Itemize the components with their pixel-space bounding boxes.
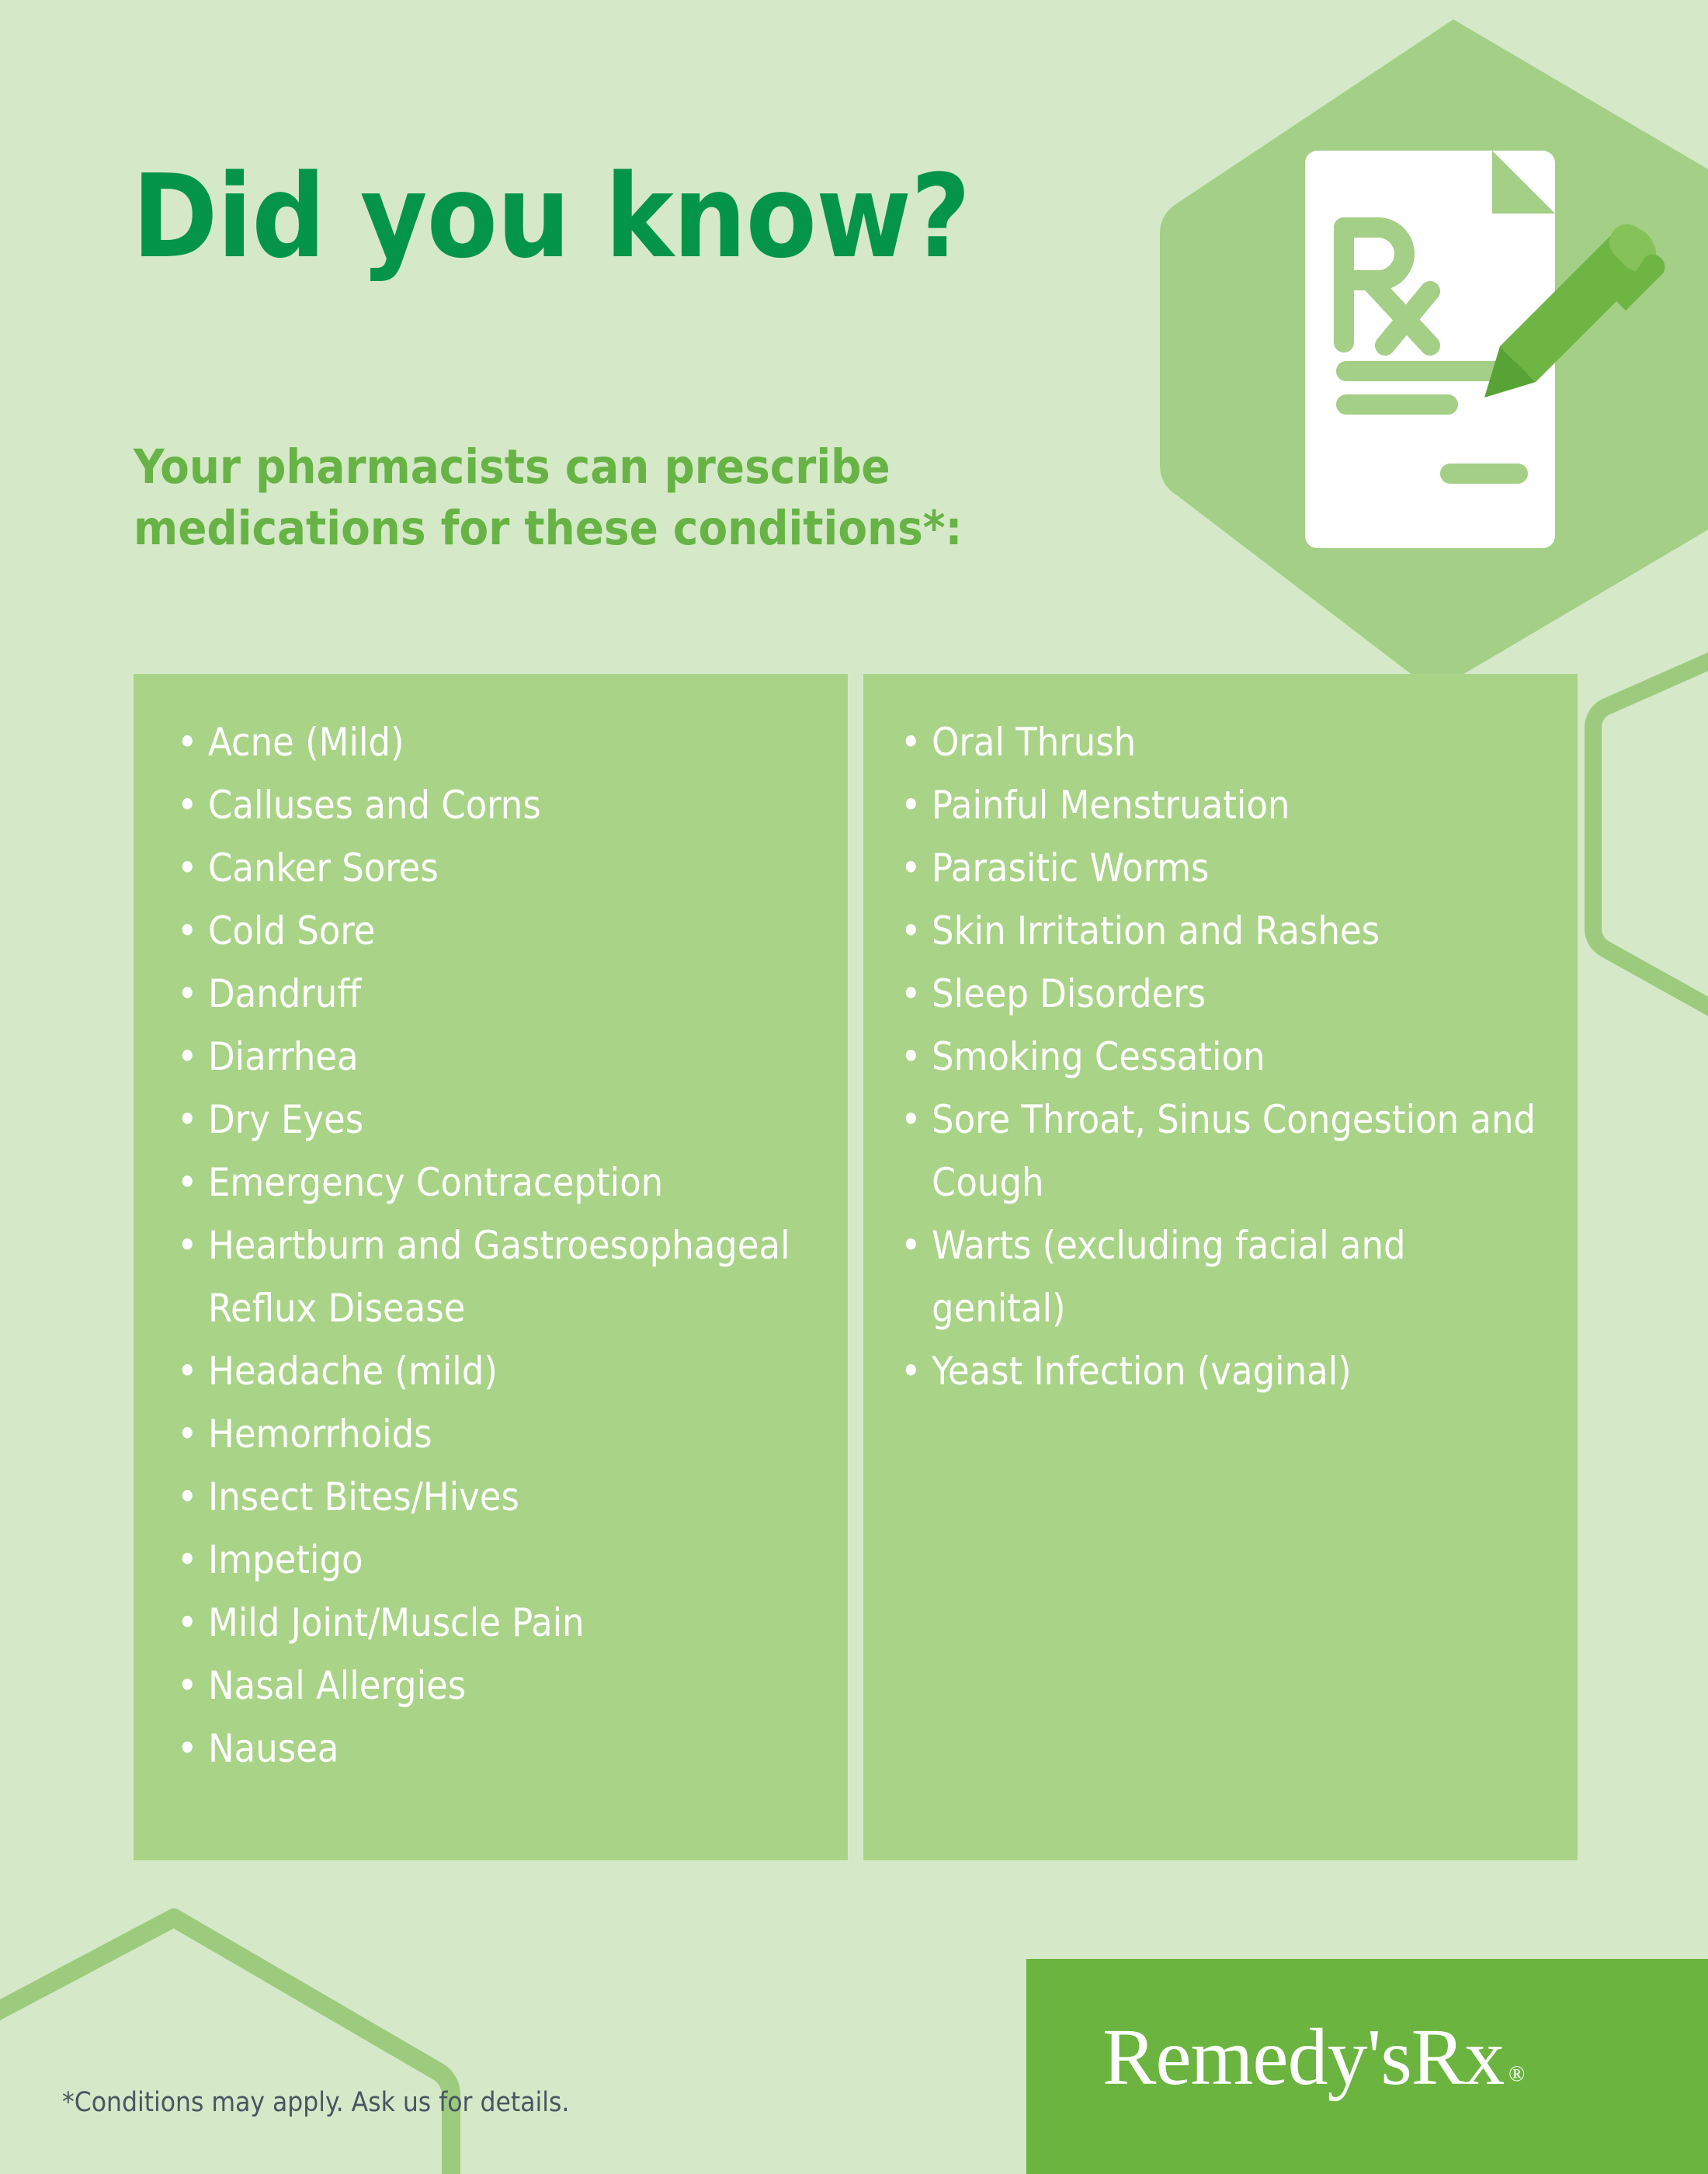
list-item: •Hemorrhoids [171, 1403, 817, 1466]
list-item: •Heartburn and Gastroesophageal Reflux D… [171, 1214, 817, 1340]
list-item-label: Acne (Mild) [208, 720, 404, 765]
list-item: •Headache (mild) [171, 1340, 817, 1403]
registered-trademark-icon: ® [1508, 2062, 1524, 2086]
prescription-document-icon [1305, 151, 1555, 548]
bullet-icon: • [901, 1214, 922, 1277]
list-item: •Dandruff [171, 963, 817, 1026]
list-item-label: Smoking Cessation [932, 1034, 1265, 1079]
list-item-label: Hemorrhoids [208, 1412, 432, 1457]
bullet-icon: • [177, 1466, 198, 1529]
list-item-label: Insect Bites/Hives [208, 1474, 519, 1519]
bullet-icon: • [177, 774, 198, 837]
signature-line-icon [1440, 464, 1528, 484]
bullet-icon: • [901, 963, 922, 1026]
list-item-label: Parasitic Worms [932, 846, 1210, 891]
footnote-disclaimer: *Conditions may apply. Ask us for detail… [62, 2087, 569, 2118]
brand-logo-name: Remedy'sRx [1102, 2013, 1504, 2102]
list-item: •Warts (excluding facial and genital) [894, 1214, 1547, 1340]
list-item: •Mild Joint/Muscle Pain [171, 1592, 817, 1655]
bullet-icon: • [177, 1089, 198, 1151]
list-item-label: Painful Menstruation [932, 783, 1290, 828]
list-item-label: Heartburn and Gastroesophageal Reflux Di… [208, 1223, 790, 1331]
bullet-icon: • [177, 1403, 198, 1466]
list-item-label: Warts (excluding facial and genital) [932, 1223, 1406, 1331]
list-item: •Painful Menstruation [894, 774, 1547, 837]
list-item: •Calluses and Corns [171, 774, 817, 837]
list-item-label: Emergency Contraception [208, 1160, 663, 1205]
bullet-icon: • [177, 1529, 198, 1592]
list-item-label: Canker Sores [208, 846, 439, 891]
bullet-icon: • [177, 1026, 198, 1089]
list-item-label: Nausea [208, 1726, 338, 1771]
pen-icon [1484, 217, 1665, 398]
bullet-icon: • [901, 1340, 922, 1403]
list-item: •Smoking Cessation [894, 1026, 1547, 1089]
list-item: •Oral Thrush [894, 711, 1547, 774]
list-item: •Acne (Mild) [171, 711, 817, 774]
bullet-icon: • [177, 711, 198, 774]
bullet-icon: • [177, 1151, 198, 1214]
list-item-label: Sleep Disorders [932, 971, 1206, 1016]
list-item: •Nausea [171, 1717, 817, 1780]
list-item-label: Diarrhea [208, 1034, 359, 1079]
rx-symbol-icon [1344, 227, 1430, 346]
list-item-label: Mild Joint/Muscle Pain [208, 1600, 585, 1645]
list-item: •Sore Throat, Sinus Congestion and Cough [894, 1089, 1547, 1214]
conditions-list-right: •Oral Thrush•Painful Menstruation•Parasi… [894, 711, 1547, 1403]
list-item: •Emergency Contraception [171, 1151, 817, 1214]
list-item: •Insect Bites/Hives [171, 1466, 817, 1529]
list-item-label: Nasal Allergies [208, 1663, 466, 1708]
conditions-card-left: •Acne (Mild)•Calluses and Corns•Canker S… [134, 674, 848, 1860]
bullet-icon: • [177, 837, 198, 900]
list-item-label: Sore Throat, Sinus Congestion and Cough [932, 1097, 1536, 1205]
list-item-label: Oral Thrush [932, 720, 1136, 765]
bullet-icon: • [901, 774, 922, 837]
list-item-label: Calluses and Corns [208, 783, 541, 828]
list-item-label: Skin Irritation and Rashes [932, 908, 1380, 953]
hexagon-outline-right-icon [1593, 643, 1708, 1020]
list-item-label: Dry Eyes [208, 1097, 363, 1142]
list-item: •Parasitic Worms [894, 837, 1547, 900]
bullet-icon: • [901, 1026, 922, 1089]
list-item: •Yeast Infection (vaginal) [894, 1340, 1547, 1403]
conditions-card-right: •Oral Thrush•Painful Menstruation•Parasi… [863, 674, 1578, 1860]
bullet-icon: • [177, 1214, 198, 1277]
bullet-icon: • [177, 1592, 198, 1655]
bullet-icon: • [177, 1340, 198, 1403]
list-item-label: Cold Sore [208, 908, 375, 953]
bullet-icon: • [177, 1655, 198, 1717]
bullet-icon: • [901, 900, 922, 963]
list-item-label: Yeast Infection (vaginal) [932, 1349, 1352, 1394]
list-item: •Impetigo [171, 1529, 817, 1592]
list-item-label: Headache (mild) [208, 1349, 498, 1394]
document-line-icon [1336, 394, 1458, 415]
list-item: •Cold Sore [171, 900, 817, 963]
subheading: Your pharmacists can prescribe medicatio… [134, 436, 1104, 560]
list-item: •Canker Sores [171, 837, 817, 900]
list-item-label: Impetigo [208, 1537, 363, 1582]
hexagon-outline-bottom-left-icon [0, 1918, 451, 2174]
bullet-icon: • [901, 1089, 922, 1151]
list-item: •Nasal Allergies [171, 1655, 817, 1717]
list-item: •Diarrhea [171, 1026, 817, 1089]
bullet-icon: • [177, 1717, 198, 1780]
list-item: •Skin Irritation and Rashes [894, 900, 1547, 963]
bullet-icon: • [901, 711, 922, 774]
bullet-icon: • [177, 963, 198, 1026]
bullet-icon: • [901, 837, 922, 900]
list-item: •Sleep Disorders [894, 963, 1547, 1026]
document-line-icon [1336, 361, 1529, 381]
conditions-list-left: •Acne (Mild)•Calluses and Corns•Canker S… [171, 711, 817, 1780]
bullet-icon: • [177, 900, 198, 963]
page-title: Did you know? [132, 159, 970, 274]
brand-logo: Remedy'sRx® [1102, 2017, 1524, 2098]
list-item-label: Dandruff [208, 971, 361, 1016]
list-item: •Dry Eyes [171, 1089, 817, 1151]
hexagon-badge-icon [1160, 19, 1708, 685]
